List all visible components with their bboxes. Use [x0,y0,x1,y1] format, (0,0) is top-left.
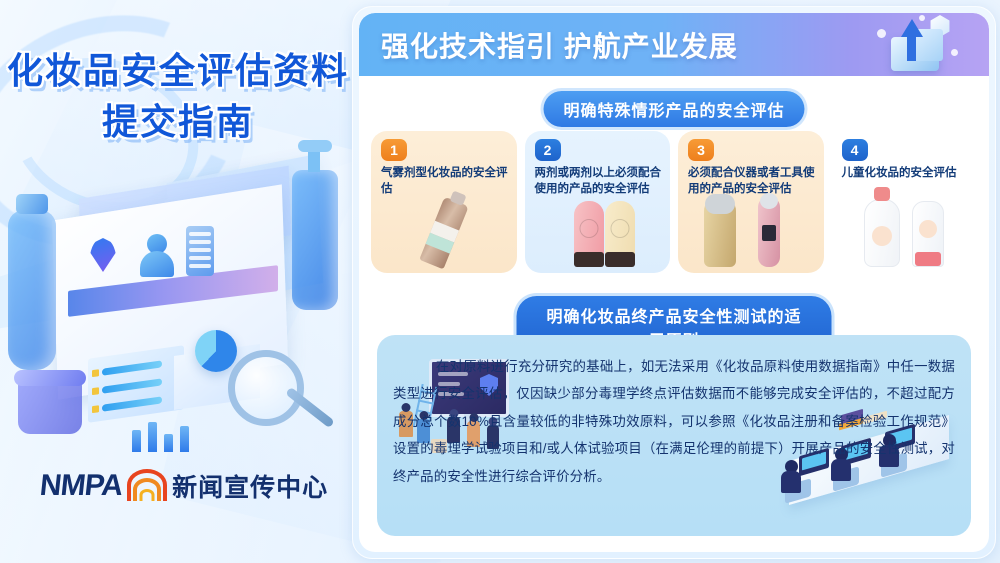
panel-header: 强化技术指引 护航产业发展 [359,13,989,76]
card-badge-number: 4 [842,139,868,161]
cosmetics-evaluation-illustration [0,160,356,450]
beauty-device-icon [678,193,824,269]
cube-arrow-growth-icon [873,15,963,76]
arc-signal-icon [130,471,164,501]
bar-chart-icon [132,418,192,452]
panel-header-title: 强化技术指引 护航产业发展 [381,25,738,65]
card-badge-number: 2 [535,139,561,161]
nmpa-logo: NMPA 新闻宣传中心 [40,466,340,506]
card-item-2[interactable]: 2 两剂或两剂以上必须配合使用的产品的安全评估 [525,131,671,273]
section-1-label: 明确特殊情形产品的安全评估 [543,91,804,127]
card-text: 儿童化妆品的安全评估 [842,165,970,181]
logo-wordmark: NMPA [38,469,124,503]
card-item-1[interactable]: 1 气雾剂型化妆品的安全评估 [371,131,517,273]
card-badge-number: 1 [381,139,407,161]
document-stack-icon [186,226,214,276]
content-panel: 强化技术指引 护航产业发展 明确特殊情形产品的安全评估 1 气雾剂型化妆品的安全… [352,6,996,559]
content-panel-inner: 强化技术指引 护航产业发展 明确特殊情形产品的安全评估 1 气雾剂型化妆品的安全… [359,13,989,552]
card-badge-number: 3 [688,139,714,161]
title-line-1: 化妆品安全评估资料 [0,48,356,95]
two-cream-tubes-icon [525,193,671,269]
card-item-4[interactable]: 4 儿童化妆品的安全评估 [832,131,978,273]
card-item-3[interactable]: 3 必须配合仪器或者工具使用的产品的安全评估 [678,131,824,273]
pie-chart-icon [195,330,237,372]
children-cosmetics-icon [832,193,978,269]
cosmetic-jar [18,378,82,434]
infographic-poster: 化妆品安全评估资料 提交指南 NMPA [0,0,1000,563]
cosmetic-bottle [8,210,56,370]
checklist-icon [88,345,184,422]
body-paragraph-wrapper: 在对原料进行充分研究的基础上，如无法采用《化妆品原料使用数据指南》中任一数据类型… [393,353,955,490]
aerosol-bottle-icon [371,193,517,269]
person-avatar-icon [140,234,174,276]
body-panel: 在对原料进行充分研究的基础上，如无法采用《化妆品原料使用数据指南》中任一数据类型… [377,335,971,536]
logo-subtitle: 新闻宣传中心 [172,468,328,504]
pump-bottle [292,170,338,310]
page-title: 化妆品安全评估资料 提交指南 [0,48,356,146]
body-paragraph: 在对原料进行充分研究的基础上，如无法采用《化妆品原料使用数据指南》中任一数据类型… [393,353,955,490]
title-line-2: 提交指南 [0,99,356,146]
card-list: 1 气雾剂型化妆品的安全评估 2 两剂或两剂以上必须配合使用的产品的安全评估 [371,131,977,273]
